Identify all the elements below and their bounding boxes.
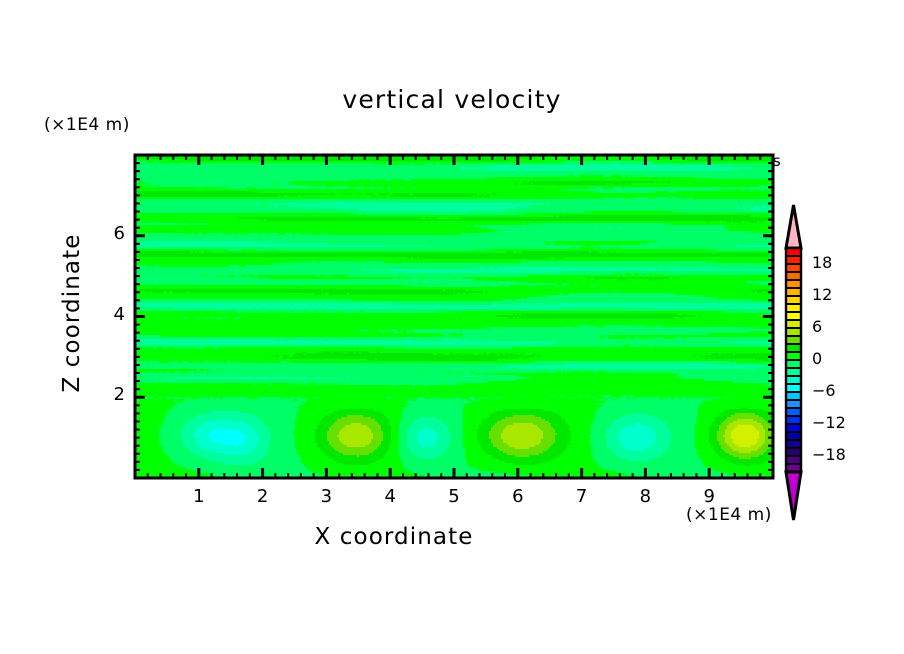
colorbar-over-cap <box>786 205 801 248</box>
colorbar-tick-label: 0 <box>812 349 822 368</box>
x-tick-label: 3 <box>306 486 346 507</box>
contour-field <box>135 155 774 480</box>
y-tick-label: 4 <box>101 304 125 325</box>
x-tick-label: 1 <box>179 486 219 507</box>
colorbar-tick-label: 18 <box>812 253 832 272</box>
x-tick-label: 9 <box>689 486 729 507</box>
x-tick-label: 2 <box>243 486 283 507</box>
x-tick-label: 7 <box>562 486 602 507</box>
colorbar-tick-label: −6 <box>812 381 836 400</box>
x-tick-label: 6 <box>498 486 538 507</box>
x-tick-label: 8 <box>625 486 665 507</box>
y-tick-label: 6 <box>101 223 125 244</box>
colorbar-under-cap <box>786 472 801 520</box>
colorbar-tick-label: 6 <box>812 317 822 336</box>
colorbar-tick-label: −18 <box>812 445 846 464</box>
x-tick-label: 5 <box>434 486 474 507</box>
y-tick-label: 2 <box>101 384 125 405</box>
contour-plot <box>0 0 904 654</box>
colorbar-tick-label: 12 <box>812 285 832 304</box>
colorbar[interactable] <box>786 205 801 520</box>
colorbar-tick-label: −12 <box>812 413 846 432</box>
figure-canvas: vertical velocity (×1E4 m) (×1E4 m) X co… <box>0 0 904 654</box>
x-tick-label: 4 <box>370 486 410 507</box>
